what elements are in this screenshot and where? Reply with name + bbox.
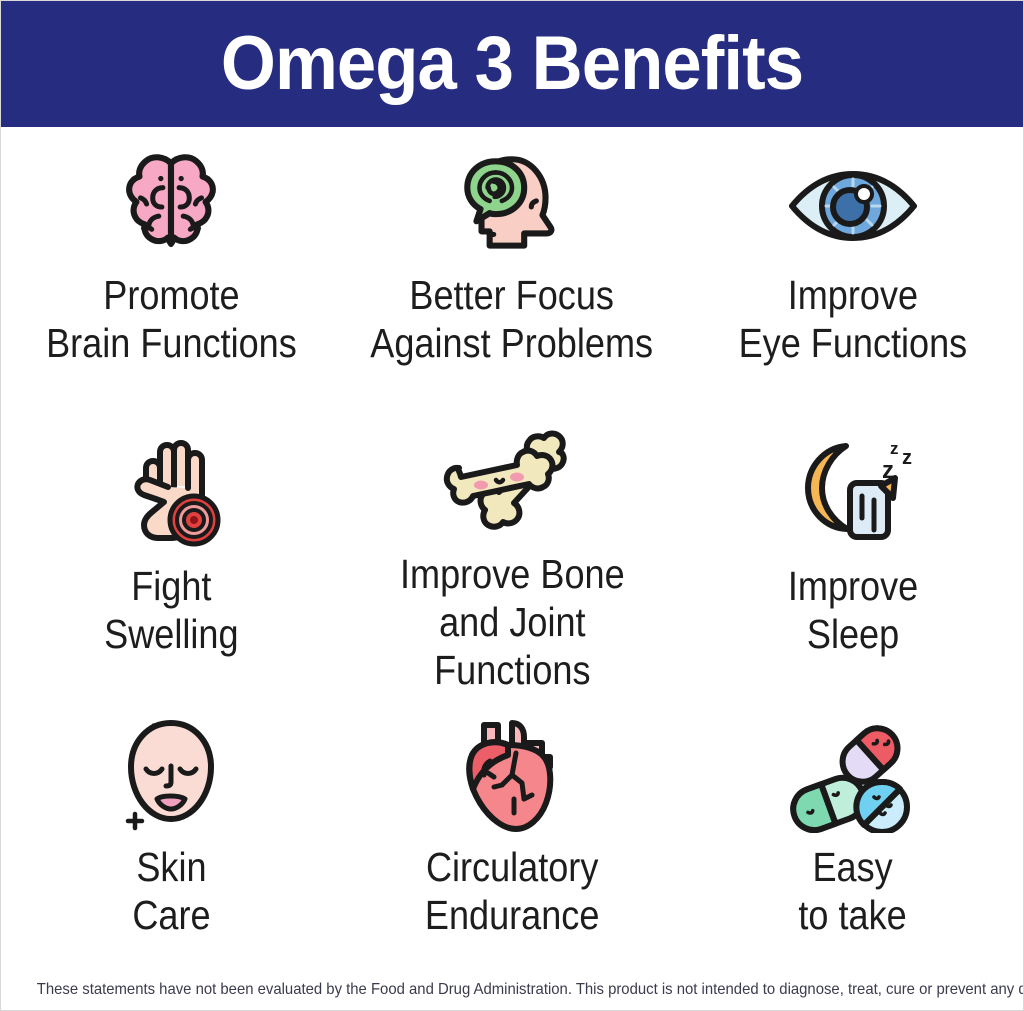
infographic-page: Omega 3 Benefits [0, 0, 1024, 1011]
face-skin-icon [96, 711, 246, 833]
eye-icon [778, 145, 928, 267]
benefit-card-bones: Improve Bone and Joint Functions [342, 412, 683, 693]
moon-sleep-icon: z z z [778, 430, 928, 552]
header-banner: Omega 3 Benefits [1, 1, 1023, 127]
benefit-label: Skin Care [132, 843, 210, 939]
benefit-card-brain: Promote Brain Functions [1, 127, 342, 412]
benefit-label: Improve Eye Functions [738, 271, 967, 367]
benefit-label: Improve Bone and Joint Functions [362, 550, 662, 694]
pills-icon [778, 711, 928, 833]
zzz-mid: z [902, 447, 912, 469]
benefit-card-sleep: z z z Improve Sleep [682, 412, 1023, 693]
zzz-large: z [882, 457, 894, 484]
benefit-label: Promote Brain Functions [46, 271, 297, 367]
benefit-label: Easy to take [798, 843, 906, 939]
benefit-label: Improve Sleep [787, 562, 917, 658]
bones-icon [437, 430, 587, 540]
benefit-card-focus: Better Focus Against Problems [342, 127, 683, 412]
benefit-card-skin: Skin Care [1, 693, 342, 972]
benefit-label: Better Focus Against Problems [371, 271, 654, 367]
head-focus-icon [437, 145, 587, 267]
page-title: Omega 3 Benefits [221, 26, 803, 102]
benefit-card-heart: Circulatory Endurance [342, 693, 683, 972]
brain-icon [96, 145, 246, 267]
benefit-label: Circulatory Endurance [425, 843, 600, 939]
hand-inflammation-icon [96, 430, 246, 552]
zzz-small: z [890, 439, 899, 458]
benefit-card-eye: Improve Eye Functions [682, 127, 1023, 412]
benefit-card-swelling: Fight Swelling [1, 412, 342, 693]
benefits-grid: Promote Brain Functions [1, 127, 1023, 972]
disclaimer-text: These statements have not been evaluated… [37, 980, 987, 1000]
benefit-card-pills: Easy to take [682, 693, 1023, 972]
benefit-label: Fight Swelling [104, 562, 238, 658]
heart-icon [437, 711, 587, 833]
